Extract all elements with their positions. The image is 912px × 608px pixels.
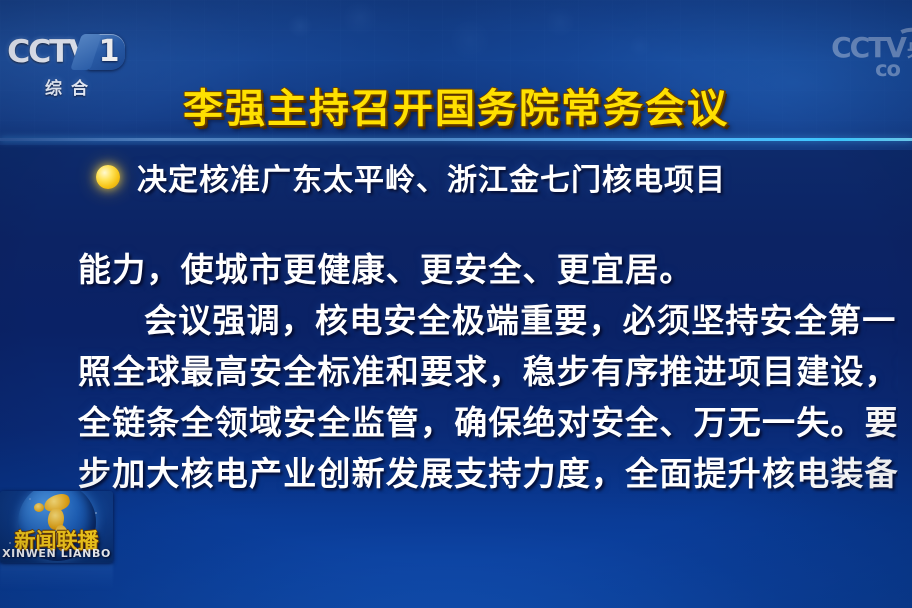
body-line: 全链条全领域安全监管，确保绝对安全、万无一失。要进一: [78, 397, 898, 448]
subheadline: 决定核准广东太平岭、浙江金七门核电项目: [96, 155, 726, 199]
headline-divider: [0, 138, 912, 141]
body-line: 能力，使城市更健康、更安全、更宜居。: [78, 244, 898, 295]
gold-sphere-bullet-icon: [96, 165, 120, 189]
broadcast-screen: CCTV 1 综合 CCTV 央 co 李强主持召开国务院常务会议 决定核准广东…: [0, 0, 912, 608]
body-line: 会议强调，核电安全极端重要，必须坚持安全第一，按: [78, 295, 898, 346]
channel-number: 1: [96, 33, 122, 71]
program-bug-reflection: [0, 564, 113, 590]
body-line: 步加大核电产业创新发展支持力度，全面提升核电装备及相: [78, 448, 898, 494]
headline: 李强主持召开国务院常务会议: [0, 76, 912, 134]
body-line: 照全球最高安全标准和要求，稳步有序推进项目建设，加强: [78, 346, 898, 397]
subheadline-text: 决定核准广东太平岭、浙江金七门核电项目: [137, 155, 726, 199]
channel-logo-row: CCTV 1: [8, 32, 128, 72]
program-name-en: XINWEN LIANBO: [0, 547, 113, 560]
body-copy: 能力，使城市更健康、更安全、更宜居。 会议强调，核电安全极端重要，必须坚持安全第…: [78, 244, 898, 494]
program-bug: 新闻联播 XINWEN LIANBO: [0, 491, 113, 563]
headline-text: 李强主持召开国务院常务会议: [183, 76, 729, 134]
